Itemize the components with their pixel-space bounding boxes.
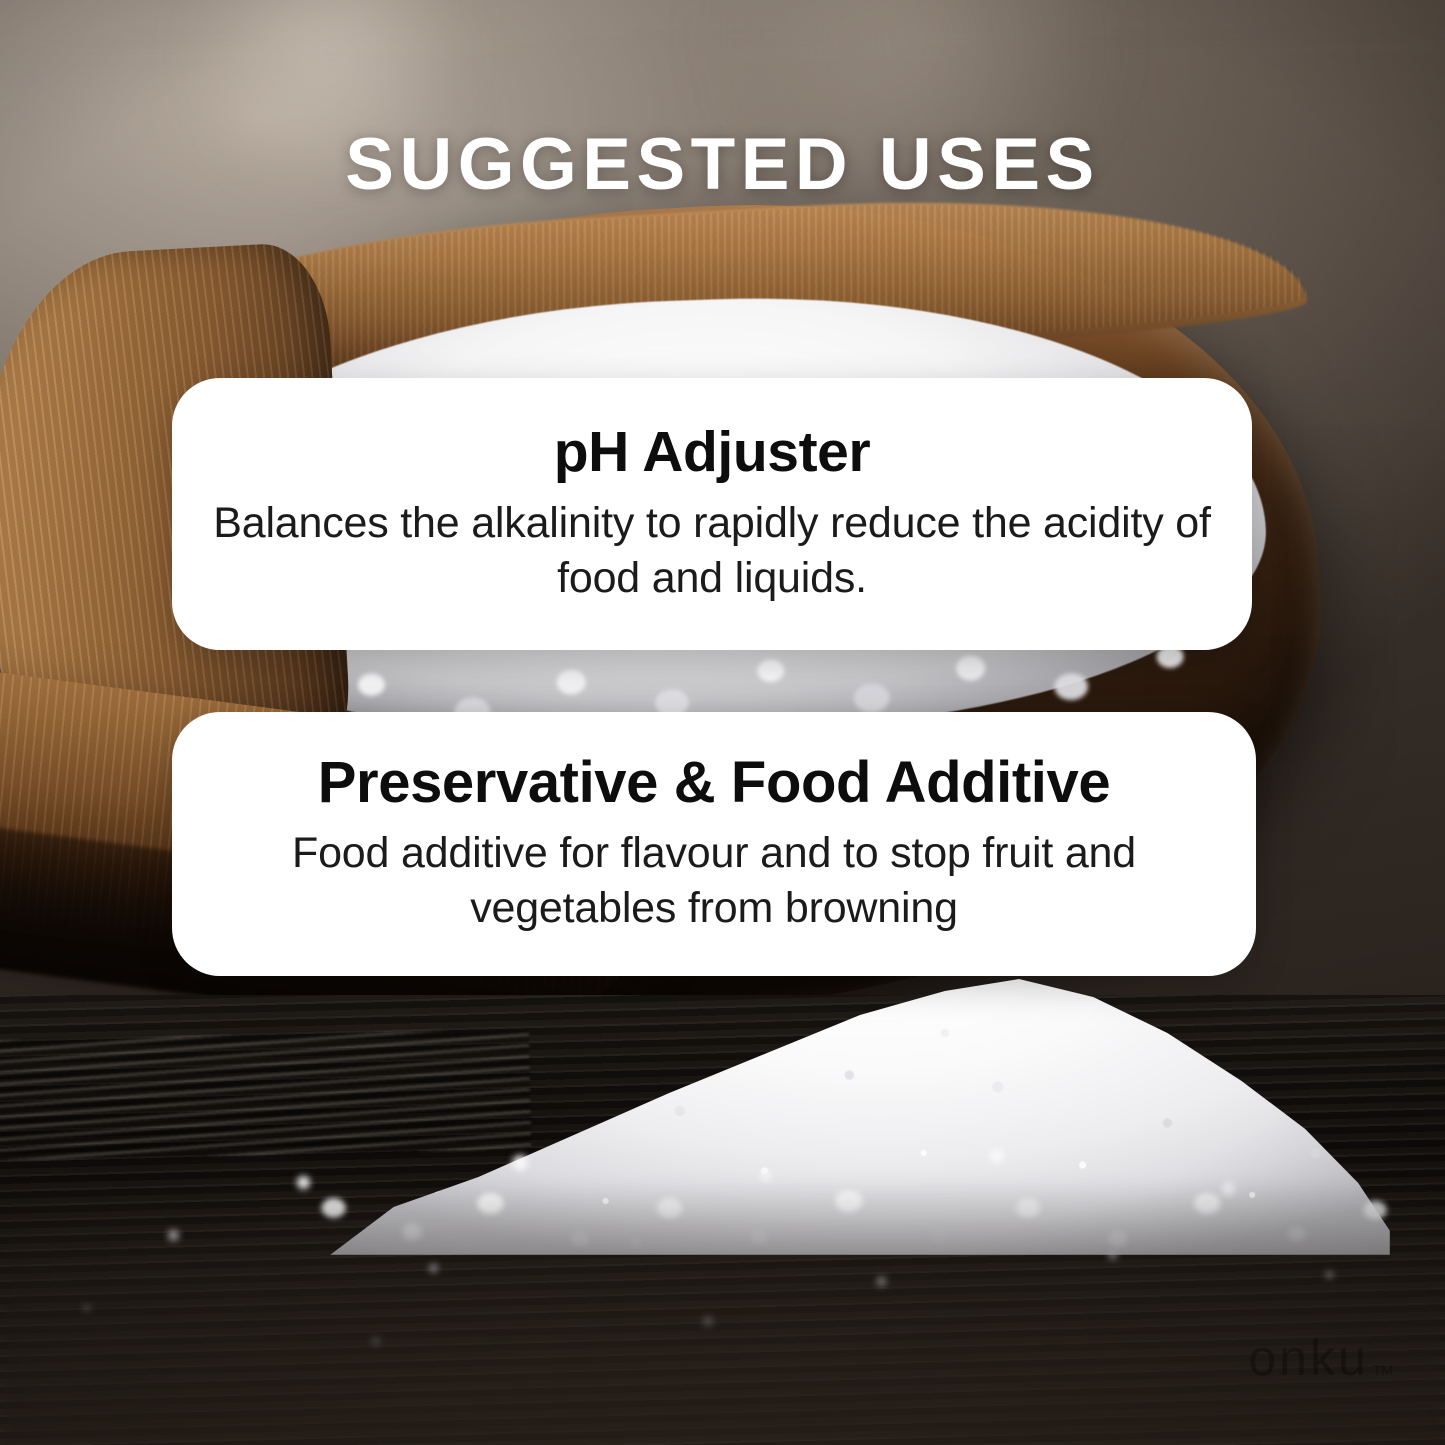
product-feature-image: SUGGESTED USES pH Adjuster Balances the … [0,0,1445,1445]
suggested-use-card-ph-adjuster: pH Adjuster Balances the alkalinity to r… [172,378,1252,650]
page-title: SUGGESTED USES [0,128,1445,201]
overlay-content: SUGGESTED USES pH Adjuster Balances the … [0,0,1445,1445]
card-title: pH Adjuster [554,422,871,482]
card-body-text: Balances the alkalinity to rapidly reduc… [172,496,1252,606]
suggested-use-card-preservative: Preservative & Food Additive Food additi… [172,712,1256,976]
card-body-text: Food additive for flavour and to stop fr… [172,826,1256,936]
brand-watermark-text: onku [1248,1333,1368,1383]
card-title: Preservative & Food Additive [318,752,1110,813]
trademark-icon: TM [1373,1363,1393,1377]
brand-watermark: onku TM [1248,1333,1393,1383]
